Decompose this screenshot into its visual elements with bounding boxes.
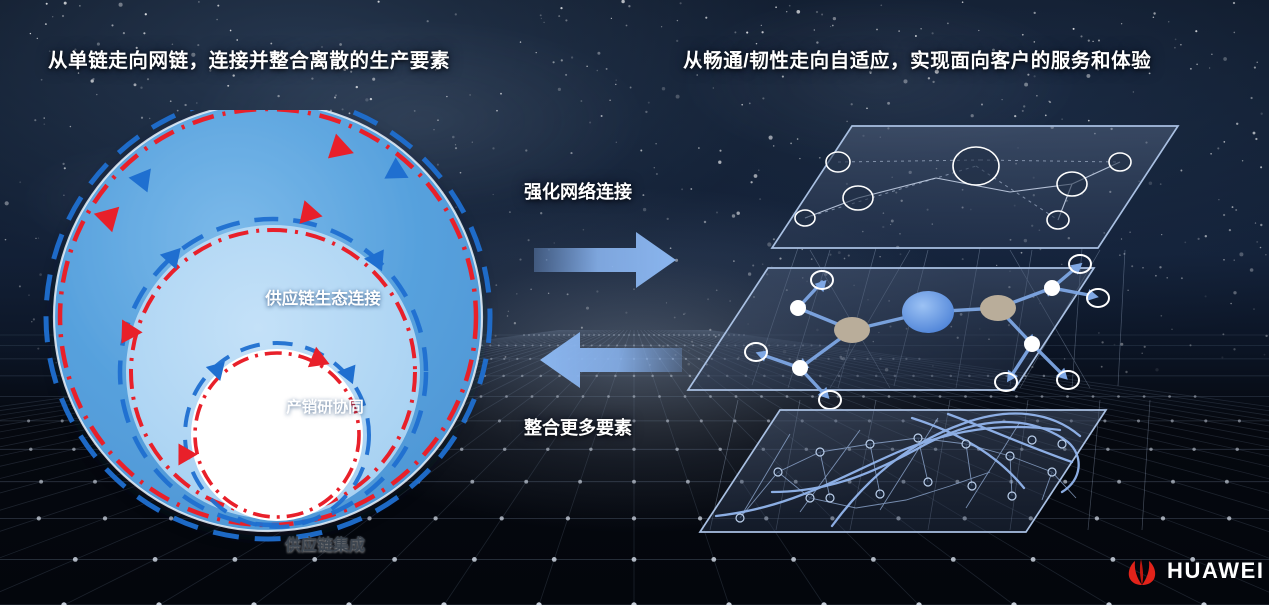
plane-supply-demand <box>688 268 1094 390</box>
huawei-flower-icon <box>1125 556 1159 586</box>
network-layers-diagram: 指令网络 供需网络 物理网络 <box>680 100 1200 545</box>
slide-canvas: 从单链走向网链，连接并整合离散的生产要素 从畅通/韧性走向自适应，实现面向客户的… <box>0 0 1269 605</box>
huawei-wordmark: HUAWEI <box>1167 558 1265 584</box>
ring-label-middle: 产销研协同 <box>200 395 450 417</box>
bridge-caption-top: 强化网络连接 <box>524 178 632 204</box>
rings-svg <box>40 110 520 550</box>
bridge-caption-bottom: 整合更多要素 <box>524 414 632 440</box>
layers-svg <box>680 100 1200 545</box>
plane-command <box>772 126 1178 248</box>
page-title-right: 从畅通/韧性走向自适应，实现面向客户的服务和体验 <box>683 44 1151 73</box>
arrow-right <box>534 232 676 288</box>
arrow-left <box>540 332 682 388</box>
page-title-left: 从单链走向网链，连接并整合离散的生产要素 <box>48 44 450 73</box>
huawei-logo: HUAWEI <box>1125 556 1265 586</box>
ring-label-outer: 供应链生态连接 <box>158 285 488 309</box>
network-layer-physical <box>700 410 1106 532</box>
network-layer-supply-demand <box>688 255 1109 409</box>
network-layer-command <box>772 126 1178 248</box>
ring-label-inner: 供应链集成 <box>210 531 440 555</box>
supply-chain-rings-diagram: 供应链生态连接 产销研协同 供应链集成 <box>40 110 520 550</box>
